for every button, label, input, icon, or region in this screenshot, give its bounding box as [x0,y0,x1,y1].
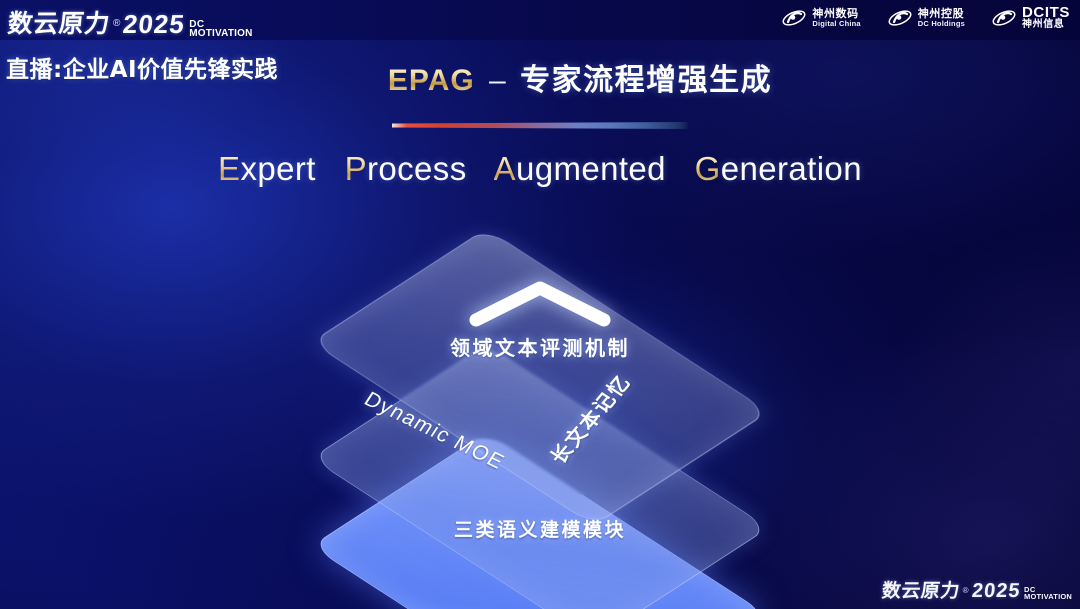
subtitle-space [325,150,335,187]
partner-name-en: DC Holdings [918,20,965,28]
page-subtitle: Expert Process Augmented Generation [0,150,1080,188]
partner-logo-dcits: DCITS 神州信息 [991,5,1070,30]
subtitle-word-generation: Generation [695,150,862,187]
stack-layer-top-label: 领域文本评测机制 [450,332,630,361]
title-dash: – [489,64,506,97]
partner-logo-dc-holdings: 神州控股 DC Holdings [887,7,965,29]
subtitle-space [676,150,686,187]
brand-logo-bottom: 数云原力 ® 2025 DC MOTIVATION [882,576,1072,603]
partner-name-cn: 神州信息 [1022,20,1070,30]
subtitle-space [476,150,486,187]
brand-logo-year: 2025 [970,580,1021,603]
partner-name-en: Digital China [812,20,860,28]
title-chinese: 专家流程增强生成 [520,63,772,98]
brand-logo-dc-motivation: DC MOTIVATION [1024,587,1072,601]
partner-name-cn: 神州控股 [918,8,965,19]
brand-registered-mark: ® [113,18,120,29]
brand-dc-line2: MOTIVATION [189,29,252,38]
brand-dc-line2: MOTIVATION [1024,594,1072,601]
dc-swirl-icon [887,7,913,29]
brand-logo-top: 数云原力 ® 2025 DC MOTIVATION [8,4,253,40]
brand-logo-year: 2025 [122,9,187,40]
live-stream-label: 直播:企业AI价值先锋实践 [6,50,278,84]
partner-name-main: DCITS [1022,5,1070,20]
subtitle-word-expert: Expert [218,150,316,187]
subtitle-word-augmented: Augmented [494,150,666,187]
layered-stack-diagram: 领域文本评测机制 Dynamic MOE 长文本记忆 三类语义建模模块 [280,228,800,586]
chevron-up-icon [466,276,614,328]
brand-logo-dc-motivation: DC MOTIVATION [189,20,252,38]
subtitle-word-process: Process [345,150,467,187]
stack-layer-bottom-label: 三类语义建模模块 [454,515,626,542]
dc-swirl-icon [991,7,1017,29]
dc-swirl-icon [781,7,807,29]
brand-registered-mark: ® [963,586,969,595]
title-acronym: EPAG [388,64,475,97]
brand-logo-chinese: 数云原力 [880,576,961,603]
partner-logo-row: 神州数码 Digital China 神州控股 DC Holdings DCIT… [781,5,1070,30]
partner-name-cn: 神州数码 [812,8,860,19]
brand-logo-chinese: 数云原力 [6,4,112,40]
partner-logo-digital-china: 神州数码 Digital China [781,7,860,29]
